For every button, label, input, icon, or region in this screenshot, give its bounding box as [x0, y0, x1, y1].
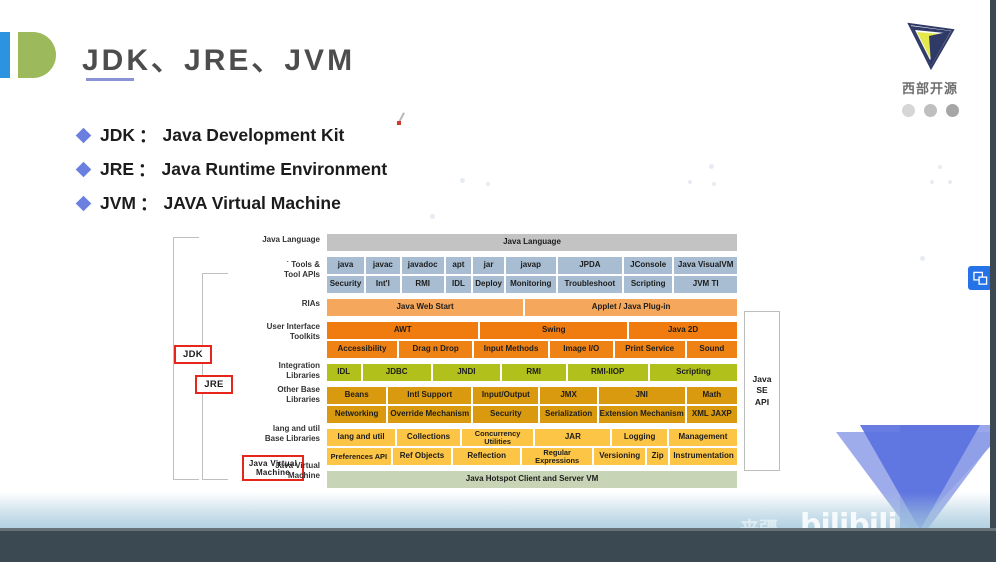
diagram-cell: JPDA: [557, 256, 623, 275]
diagram-cell: Java Language: [326, 233, 738, 252]
bg-dot: [948, 180, 952, 184]
brand-triangle-icon: [901, 16, 959, 74]
player-side-strip: [990, 0, 996, 528]
diagram-cell: Monitoring: [505, 275, 557, 294]
diagram-cell: Extension Mechanism: [598, 405, 686, 424]
diagram-cell: Intl Support: [387, 386, 472, 405]
diagram-cell: JAR: [534, 428, 611, 447]
list-item: JDK ： Java Development Kit: [78, 118, 387, 152]
bullet-key: JRE: [100, 159, 134, 180]
diagram-cell: IDL: [445, 275, 473, 294]
diagram-cell: lang and util: [326, 428, 396, 447]
pen-tip: [397, 121, 401, 125]
diagram-cell: Scripting: [649, 363, 738, 382]
diagram-band-tools-row-2: SecurityInt'lRMIIDLDeployMonitoringTroub…: [326, 275, 738, 294]
diagram-cell: Print Service: [614, 340, 686, 359]
diagram-cell: RMI-IIOP: [567, 363, 649, 382]
diagram-cell: JConsole: [623, 256, 673, 275]
bg-dot: [709, 164, 714, 169]
page-title: JDK、JRE、JVM: [82, 35, 355, 79]
popout-window-icon: [973, 271, 988, 286]
diagram-row-label: Other BaseLibraries: [277, 385, 320, 405]
diagram-cell: javadoc: [401, 256, 445, 275]
diagram-cell: XML JAXP: [686, 405, 738, 424]
diagram-cell: Networking: [326, 405, 387, 424]
diagram-cell: Swing: [479, 321, 628, 340]
bg-dot: [930, 180, 934, 184]
diagram-cell: JVM TI: [673, 275, 738, 294]
diagram-band-rias: Java Web StartApplet / Java Plug-in: [326, 298, 738, 317]
diagram-cell: Input Methods: [473, 340, 548, 359]
diagram-cell: apt: [445, 256, 473, 275]
diagram-band-ui-toolkits-row-1: AWTSwingJava 2D: [326, 321, 738, 340]
diagram-cell: javac: [365, 256, 401, 275]
bullet-colon: ：: [140, 191, 158, 216]
bg-dot: [430, 214, 435, 219]
slide-logo-mark: [0, 32, 56, 78]
diagram-cell: Deploy: [472, 275, 505, 294]
java-se-api-label: JavaSEAPI: [753, 374, 772, 407]
bg-dot: [460, 178, 465, 183]
diagram-cell: jar: [472, 256, 505, 275]
diagram-band-integration-libraries: IDLJDBCJNDIRMIRMI-IIOPScripting: [326, 363, 738, 382]
bullet-colon: ：: [138, 157, 156, 182]
diagram-cell: Int'l: [365, 275, 401, 294]
diagram-cell: Logging: [611, 428, 668, 447]
bullet-key: JDK: [100, 125, 135, 146]
brand-dot: [902, 104, 915, 117]
bg-dot: [938, 165, 942, 169]
diagram-cell: Security: [326, 275, 365, 294]
diagram-cell: Accessibility: [326, 340, 398, 359]
diagram-cell: Scripting: [623, 275, 673, 294]
diamond-bullet-icon: [76, 127, 92, 143]
diagram-cell: Management: [668, 428, 738, 447]
title-underline: [86, 78, 134, 81]
diagram-cell: Beans: [326, 386, 387, 405]
popout-window-button[interactable]: [968, 266, 992, 290]
diagram-cell: JNI: [598, 386, 686, 405]
bullet-text: Java Development Kit: [163, 125, 345, 146]
diagram-band-ui-toolkits-row-2: AccessibilityDrag n DropInput MethodsIma…: [326, 340, 738, 359]
diagram-cell: Drag n Drop: [398, 340, 473, 359]
diagram-cell: java: [326, 256, 365, 275]
jdk-highlight-tag: JDK: [174, 345, 212, 364]
diagram-cell: Regular Expressions: [521, 447, 593, 466]
diagram-cell: Security: [472, 405, 539, 424]
diagram-band-tools-row-1: javajavacjavadocaptjarjavapJPDAJConsoleJ…: [326, 256, 738, 275]
diagram-band-other-base-row-2: NetworkingOverride MechanismSecuritySeri…: [326, 405, 738, 424]
diagram-cell: Math: [686, 386, 738, 405]
diagram-cell: Versioning: [593, 447, 646, 466]
diamond-bullet-icon: [76, 161, 92, 177]
bullet-text: Java Runtime Environment: [162, 159, 388, 180]
diagram-cell: RMI: [401, 275, 445, 294]
diagram-cell: Ref Objects: [392, 447, 453, 466]
bg-dot: [712, 182, 716, 186]
diagram-band-lang-util-row-1: lang and utilCollectionsConcurrency Util…: [326, 428, 738, 447]
diagram-band-java-language: Java Language: [326, 233, 738, 252]
diagram-cell: AWT: [326, 321, 479, 340]
bg-dot: [920, 256, 925, 261]
diagram-row-label: Java Language: [262, 235, 320, 245]
diagram-row-label: IntegrationLibraries: [279, 361, 320, 381]
diagram-grid: Java Languagejavajavacjavadocaptjarjavap…: [326, 233, 738, 489]
diagram-row-label: RIAs: [302, 299, 320, 309]
diagram-cell: Zip: [646, 447, 669, 466]
list-item: JRE ： Java Runtime Environment: [78, 152, 387, 186]
brand-dot: [924, 104, 937, 117]
diagram-cell: Java Web Start: [326, 298, 524, 317]
diagram-cell: Collections: [396, 428, 461, 447]
diagram-row-label: ˙ Tools &Tool APIs: [284, 260, 320, 280]
diagram-cell: Preferences API: [326, 447, 392, 466]
diagram-row-label: User InterfaceToolkits: [267, 322, 320, 342]
diagram-cell: Java 2D: [628, 321, 738, 340]
diagram-cell: JMX: [539, 386, 597, 405]
diagram-row-label: Java VirtualMachine: [275, 461, 320, 481]
diagram-cell: Image I/O: [549, 340, 614, 359]
diamond-bullet-icon: [76, 195, 92, 211]
diagram-cell: Java VisualVM: [673, 256, 738, 275]
progress-track[interactable]: [0, 528, 996, 531]
bullet-colon: ：: [139, 123, 157, 148]
brand-logo: 西部开源: [880, 16, 980, 117]
diagram-cell: Instrumentation: [669, 447, 738, 466]
diagram-cell: RMI: [501, 363, 567, 382]
diagram-cell: Java Hotspot Client and Server VM: [326, 470, 738, 489]
bg-dot: [688, 180, 692, 184]
diagram-cell: Reflection: [452, 447, 521, 466]
diagram-cell: Sound: [686, 340, 738, 359]
java-se-platform-diagram: JDK JRE Java Virtual Machine Java Langua…: [170, 233, 790, 485]
brand-dots: [880, 104, 980, 117]
brand-dot: [946, 104, 959, 117]
bg-dot: [486, 182, 490, 186]
list-item: JVM ： JAVA Virtual Machine: [78, 186, 387, 220]
bullet-key: JVM: [100, 193, 136, 214]
presentation-slide: JDK、JRE、JVM JDK ： Java Development Kit J…: [0, 0, 996, 562]
diagram-row-labels: Java Language˙ Tools &Tool APIsRIAsUser …: [226, 233, 324, 485]
diagram-cell: IDL: [326, 363, 362, 382]
diagram-band-other-base-row-1: BeansIntl SupportInput/OutputJMXJNIMath: [326, 386, 738, 405]
logo-blue-bar: [0, 32, 10, 78]
brand-name: 西部开源: [880, 78, 980, 97]
java-se-api-bracket: JavaSEAPI: [744, 311, 780, 471]
diagram-cell: Applet / Java Plug-in: [524, 298, 738, 317]
diagram-band-jvm: Java Hotspot Client and Server VM: [326, 470, 738, 489]
diagram-cell: Concurrency Utilities: [461, 428, 535, 447]
diagram-cell: JNDI: [432, 363, 501, 382]
diagram-cell: Troubleshoot: [557, 275, 623, 294]
bullet-text: JAVA Virtual Machine: [163, 193, 340, 214]
pen-cursor-icon: [396, 112, 408, 126]
diagram-band-lang-util-row-2: Preferences APIRef ObjectsReflectionRegu…: [326, 447, 738, 466]
diagram-cell: Override Mechanism: [387, 405, 472, 424]
diagram-cell: JDBC: [362, 363, 432, 382]
diagram-cell: Serialization: [539, 405, 597, 424]
diagram-cell: Input/Output: [472, 386, 539, 405]
player-control-bar[interactable]: [0, 528, 996, 562]
diagram-row-label: lang and utilBase Libraries: [265, 424, 320, 444]
diagram-cell: javap: [505, 256, 557, 275]
bullet-list: JDK ： Java Development Kit JRE ： Java Ru…: [78, 118, 387, 220]
logo-green-d: [18, 32, 56, 78]
